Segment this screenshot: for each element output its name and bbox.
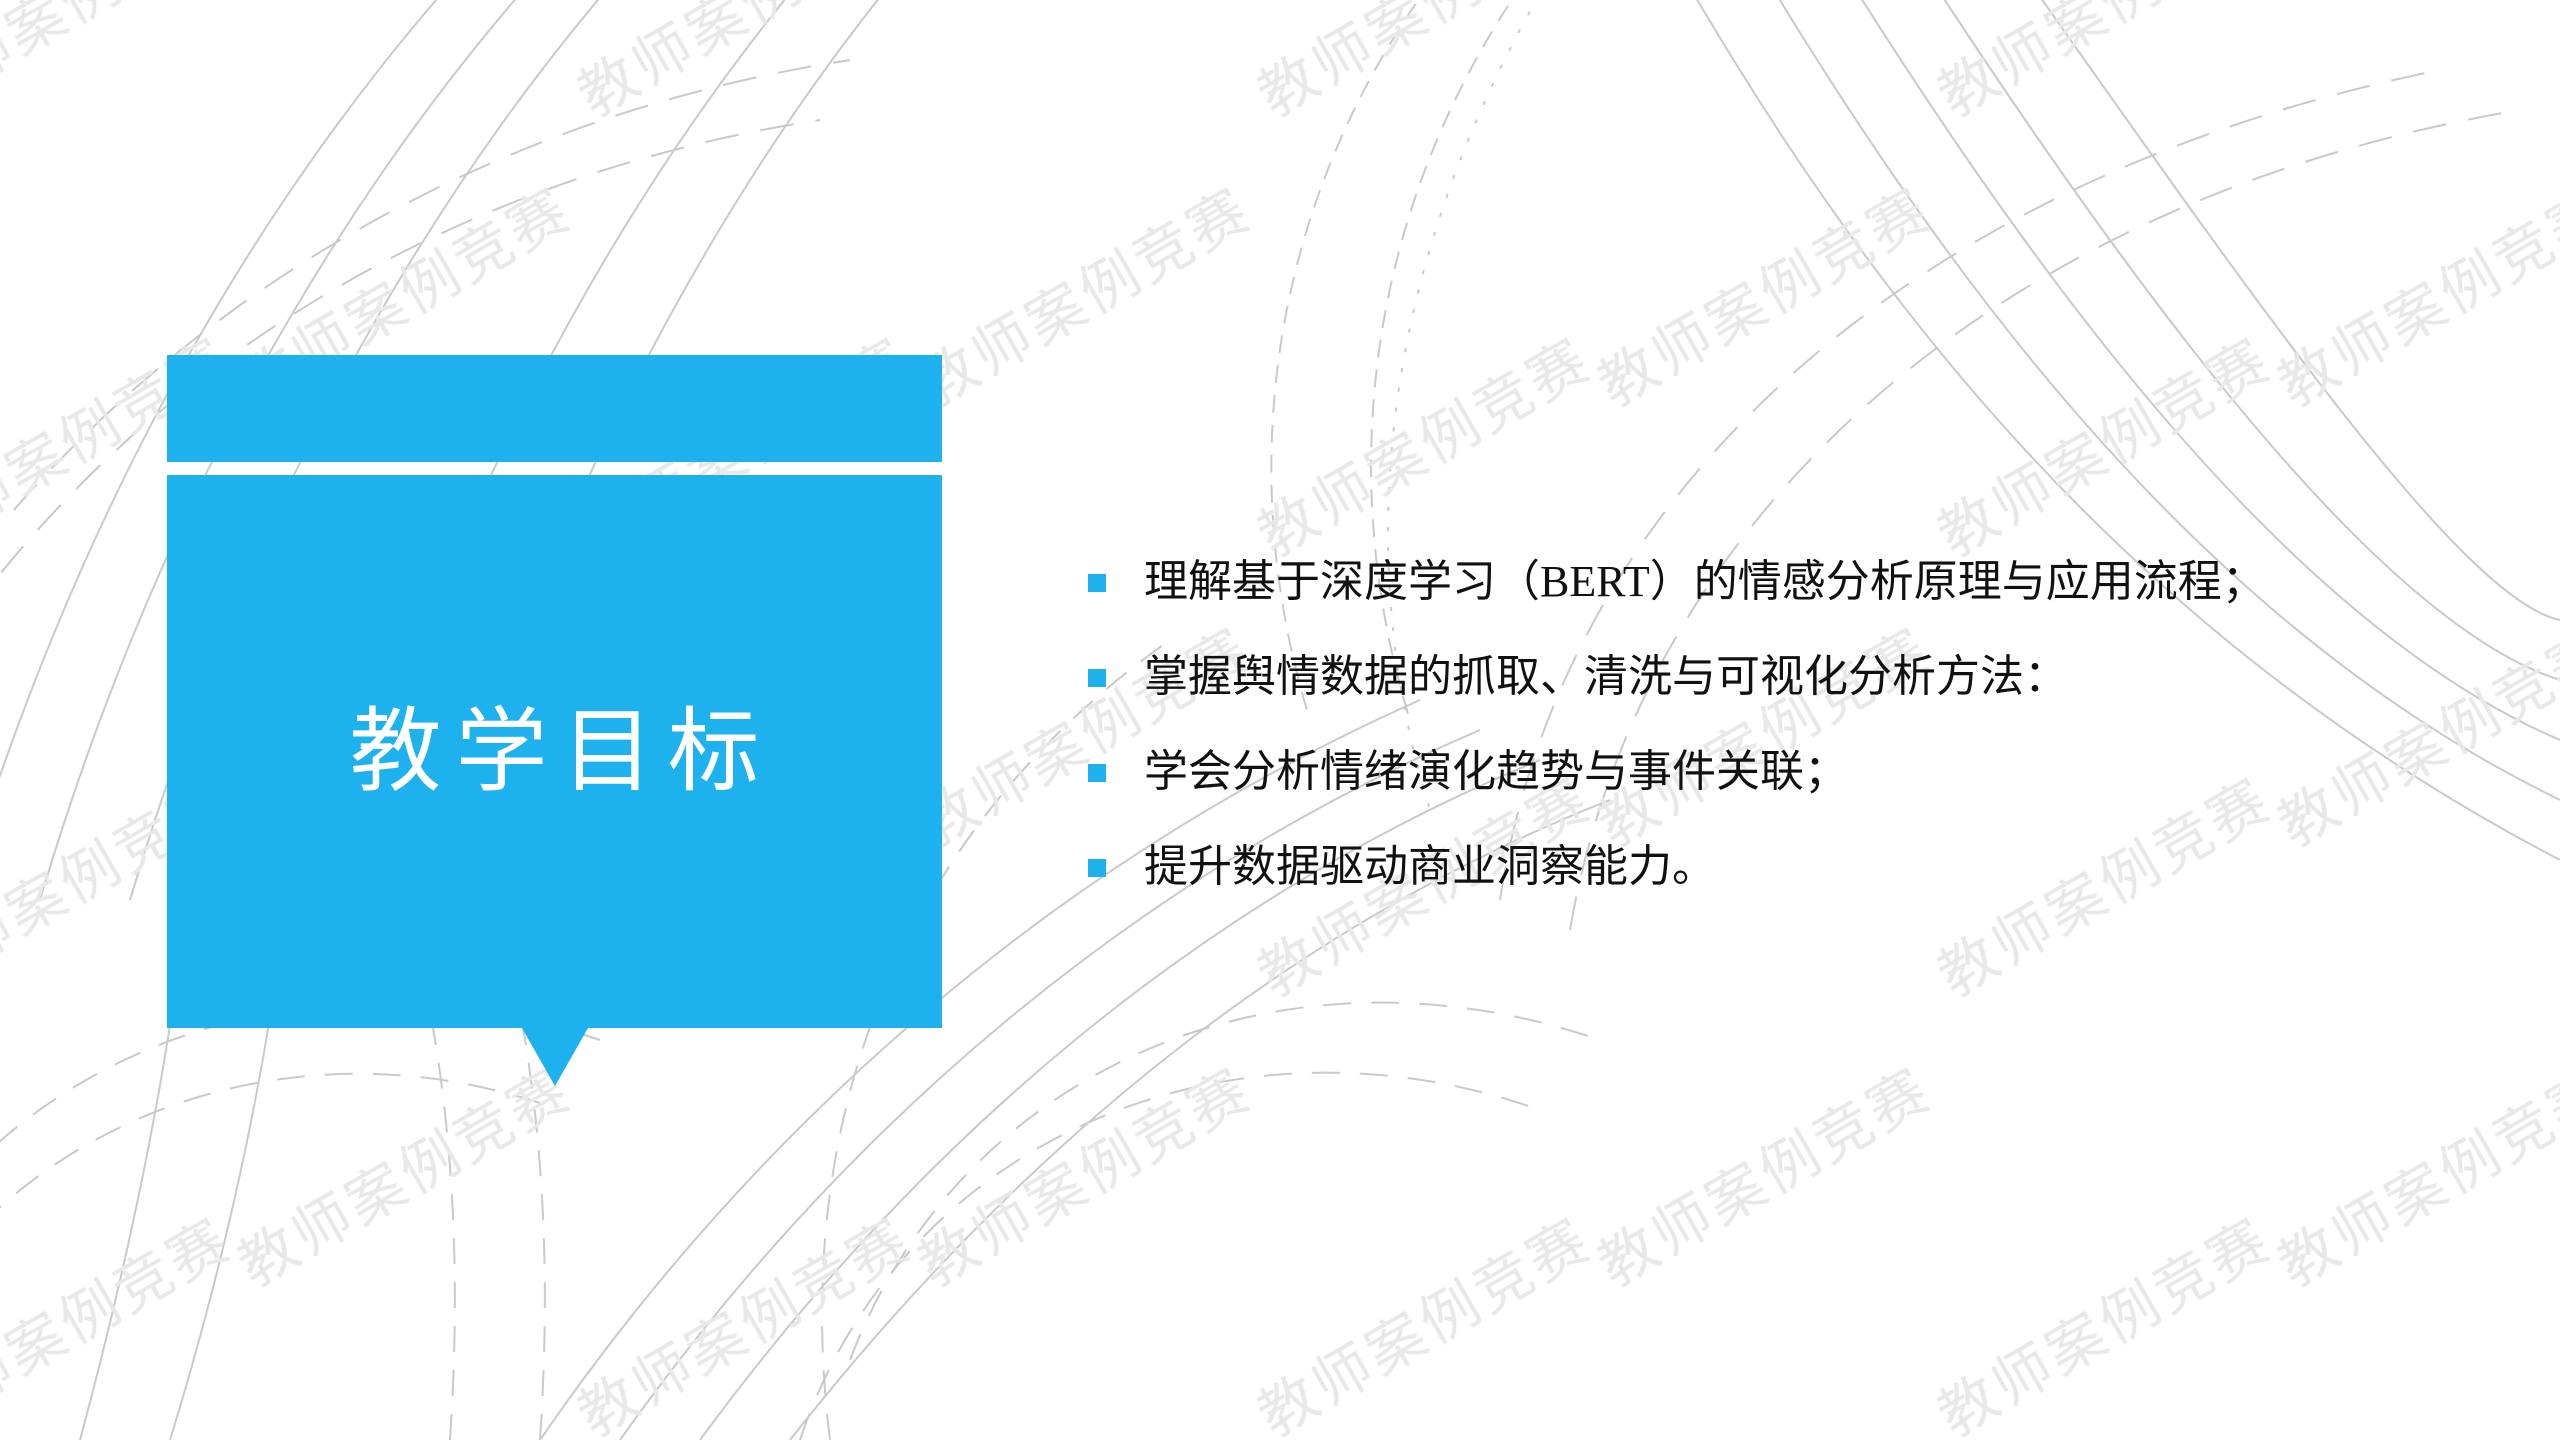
square-bullet-icon bbox=[1088, 859, 1106, 877]
watermark-text: 教师案例竞赛 bbox=[0, 1194, 244, 1440]
watermark-text: 教师案例竞赛 bbox=[1580, 164, 1944, 423]
watermark-text: 教师案例竞赛 bbox=[0, 0, 244, 133]
watermark-text: 教师案例竞赛 bbox=[1920, 1194, 2284, 1440]
watermark-text: 教师案例竞赛 bbox=[1240, 314, 1604, 573]
watermark-text: 教师案例竞赛 bbox=[560, 0, 924, 133]
teaching-objectives-callout: 教学目标 bbox=[167, 355, 942, 1028]
watermark-text: 教师案例竞赛 bbox=[2260, 1044, 2560, 1303]
watermark-text: 教师案例竞赛 bbox=[900, 164, 1264, 423]
watermark-text: 教师案例竞赛 bbox=[1580, 1044, 1944, 1303]
callout-pointer-triangle bbox=[522, 1028, 588, 1086]
objective-text: 学会分析情绪演化趋势与事件关联； bbox=[1144, 742, 1848, 802]
objective-item: 学会分析情绪演化趋势与事件关联； bbox=[1088, 742, 2428, 837]
objective-item: 提升数据驱动商业洞察能力。 bbox=[1088, 837, 2428, 932]
objective-text: 理解基于深度学习（BERT）的情感分析原理与应用流程； bbox=[1144, 552, 2266, 612]
objective-item: 理解基于深度学习（BERT）的情感分析原理与应用流程； bbox=[1088, 552, 2428, 647]
slide-canvas: 教师案例竞赛教师案例竞赛教师案例竞赛教师案例竞赛教师案例竞赛教师案例竞赛教师案例… bbox=[0, 0, 2560, 1440]
page-title: 教学目标 bbox=[167, 475, 942, 1028]
square-bullet-icon bbox=[1088, 764, 1106, 782]
objective-item: 掌握舆情数据的抓取、清洗与可视化分析方法： bbox=[1088, 647, 2428, 742]
watermark-text: 教师案例竞赛 bbox=[1920, 0, 2284, 133]
watermark-text: 教师案例竞赛 bbox=[1240, 1194, 1604, 1440]
watermark-text: 教师案例竞赛 bbox=[900, 1044, 1264, 1303]
square-bullet-icon bbox=[1088, 669, 1106, 687]
callout-top-bar bbox=[167, 355, 942, 462]
watermark-text: 教师案例竞赛 bbox=[1240, 0, 1604, 133]
square-bullet-icon bbox=[1088, 574, 1106, 592]
objectives-list: 理解基于深度学习（BERT）的情感分析原理与应用流程；掌握舆情数据的抓取、清洗与… bbox=[1088, 552, 2428, 932]
objective-text: 提升数据驱动商业洞察能力。 bbox=[1144, 837, 1716, 897]
objective-text: 掌握舆情数据的抓取、清洗与可视化分析方法： bbox=[1144, 647, 2068, 707]
watermark-text: 教师案例竞赛 bbox=[1920, 314, 2284, 573]
watermark-text: 教师案例竞赛 bbox=[2260, 164, 2560, 423]
watermark-text: 教师案例竞赛 bbox=[560, 1194, 924, 1440]
